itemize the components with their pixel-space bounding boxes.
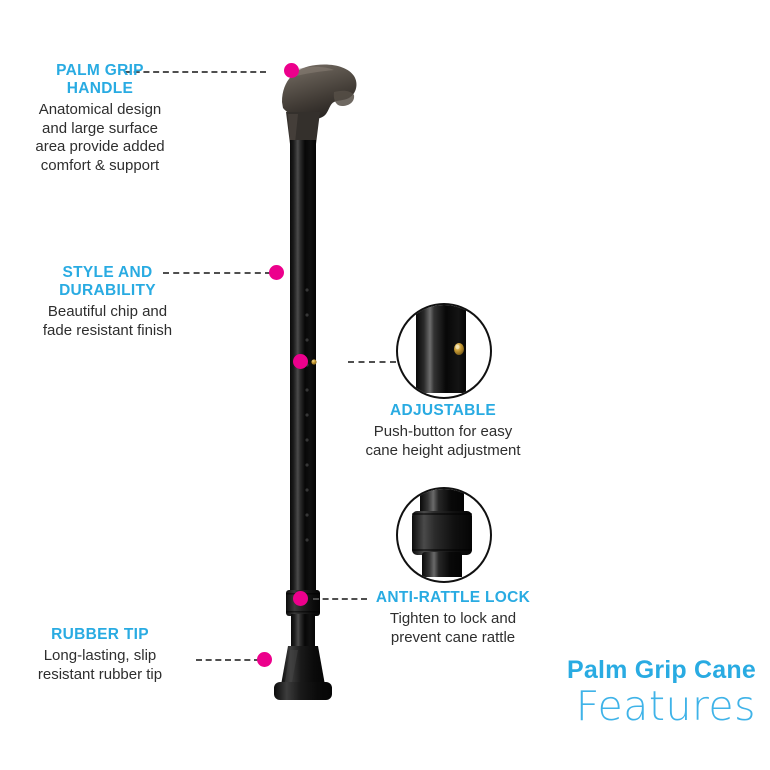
leader-line-rubber-tip xyxy=(196,659,260,661)
callout-style: STYLE AND DURABILITY Beautiful chip and … xyxy=(0,264,215,340)
detail-circle-adjustable xyxy=(396,303,492,399)
page-title: Palm Grip Cane Features xyxy=(567,656,756,728)
hotspot-dot-adjustable[interactable] xyxy=(293,354,308,369)
callout-body-adjustable: Push-button for easy cane height adjustm… xyxy=(345,423,541,460)
callout-title-style: STYLE AND DURABILITY xyxy=(0,264,215,300)
push-button-art xyxy=(311,359,316,364)
callout-palm-grip: PALM GRIP HANDLE Anatomical design and l… xyxy=(0,62,200,175)
callout-title-anti-rattle: ANTI-RATTLE LOCK xyxy=(355,589,551,607)
leader-line-adjustable xyxy=(348,361,396,363)
callout-adjustable: ADJUSTABLE Push-button for easy cane hei… xyxy=(345,402,541,460)
features-diagram: PALM GRIP HANDLE Anatomical design and l… xyxy=(0,0,770,770)
hotspot-dot-style[interactable] xyxy=(269,265,284,280)
detail-circle-anti-rattle xyxy=(396,487,492,583)
hotspot-dot-anti-rattle[interactable] xyxy=(293,591,308,606)
callout-body-rubber-tip: Long-lasting, slip resistant rubber tip xyxy=(0,647,200,684)
callout-title-adjustable: ADJUSTABLE xyxy=(345,402,541,420)
callout-rubber-tip: RUBBER TIP Long-lasting, slip resistant … xyxy=(0,626,200,684)
cane-shaft-upper xyxy=(290,140,316,600)
callout-body-anti-rattle: Tighten to lock and prevent cane rattle xyxy=(355,610,551,647)
page-title-features: Features xyxy=(567,684,756,728)
hotspot-dot-palm-grip[interactable] xyxy=(284,63,299,78)
callout-title-palm-grip: PALM GRIP HANDLE xyxy=(0,62,200,98)
hotspot-dot-rubber-tip[interactable] xyxy=(257,652,272,667)
callout-body-style: Beautiful chip and fade resistant finish xyxy=(0,303,215,340)
page-title-product: Palm Grip Cane xyxy=(567,656,756,684)
rubber-tip-art xyxy=(274,646,332,700)
callout-anti-rattle: ANTI-RATTLE LOCK Tighten to lock and pre… xyxy=(355,589,551,647)
callout-body-palm-grip: Anatomical design and large surface area… xyxy=(0,101,200,175)
callout-title-rubber-tip: RUBBER TIP xyxy=(0,626,200,644)
